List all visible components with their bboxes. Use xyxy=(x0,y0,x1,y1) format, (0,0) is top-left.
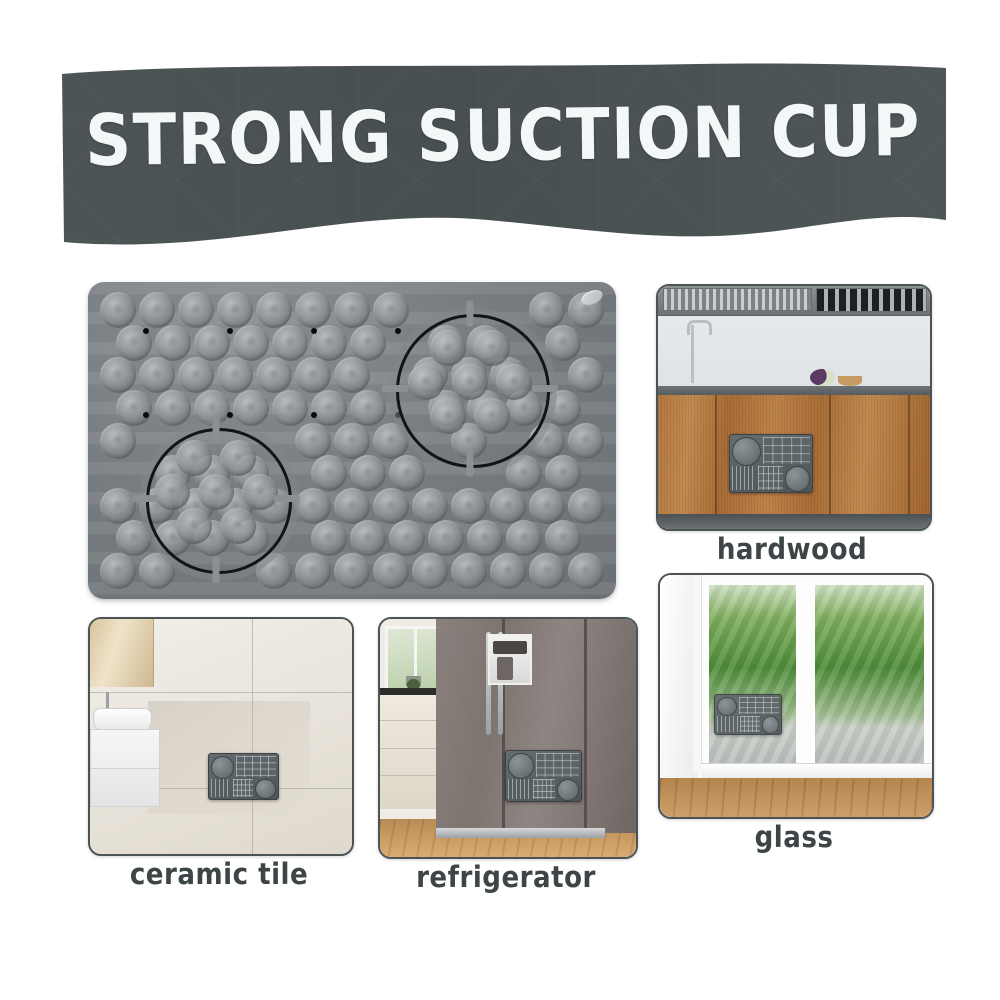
suction-cup xyxy=(217,292,253,328)
ring-spoke xyxy=(532,385,558,392)
suction-cup xyxy=(334,553,370,589)
suction-cup xyxy=(334,488,370,524)
hardwood-scene xyxy=(658,286,930,529)
page-title: STRONG SUCTION CUP xyxy=(57,55,949,216)
suction-cup xyxy=(272,325,308,361)
suction-cup xyxy=(490,553,526,589)
suction-cup xyxy=(545,390,581,426)
suction-cup xyxy=(116,390,152,426)
suction-cup xyxy=(256,292,292,328)
suction-cup xyxy=(139,553,175,589)
suction-cup xyxy=(155,390,191,426)
suction-cup xyxy=(139,357,175,393)
suction-cup xyxy=(116,520,152,556)
suction-cup xyxy=(350,520,386,556)
suction-cup xyxy=(412,553,448,589)
mini-mat-on-ceramic-tile xyxy=(208,753,279,800)
drain-pinhole xyxy=(311,328,317,334)
suction-cup xyxy=(373,423,409,459)
suction-cup xyxy=(350,455,386,491)
drain-pinhole xyxy=(143,328,149,334)
suction-cup xyxy=(529,292,565,328)
drain-pinhole xyxy=(227,328,233,334)
suction-cup xyxy=(295,553,331,589)
suction-cup xyxy=(568,423,604,459)
surface-photo-hardwood xyxy=(656,284,932,531)
suction-cup xyxy=(334,357,370,393)
drain-pinhole xyxy=(143,412,149,418)
suction-cup xyxy=(545,455,581,491)
suction-cup xyxy=(178,357,214,393)
suction-cup xyxy=(100,292,136,328)
banner: STRONG SUCTION CUP xyxy=(58,60,948,255)
suction-cup xyxy=(389,520,425,556)
suction-cup xyxy=(529,488,565,524)
suction-cup xyxy=(451,553,487,589)
ring-spoke xyxy=(213,556,220,582)
ring-spoke xyxy=(467,300,474,326)
suction-cup xyxy=(311,390,347,426)
ring-spoke xyxy=(132,495,158,502)
ring-spoke xyxy=(467,450,474,476)
drain-pinhole xyxy=(227,412,233,418)
suction-cup xyxy=(334,292,370,328)
suction-cup xyxy=(295,488,331,524)
ring-spoke xyxy=(382,385,408,392)
suction-cup xyxy=(233,390,269,426)
drain-pinhole xyxy=(311,412,317,418)
large-suction-ring xyxy=(146,428,292,574)
large-suction-ring xyxy=(396,314,550,468)
suction-cup xyxy=(529,553,565,589)
ring-spoke xyxy=(274,495,300,502)
suction-cup xyxy=(350,390,386,426)
surface-photo-ceramic-tile xyxy=(88,617,354,856)
surface-photo-glass xyxy=(658,573,934,819)
refrigerator-scene xyxy=(380,619,636,857)
suction-cup xyxy=(233,325,269,361)
suction-cup xyxy=(139,292,175,328)
mini-mat-on-hardwood xyxy=(729,434,813,492)
surface-label-ceramic-tile: ceramic tile xyxy=(88,857,350,891)
suction-cup xyxy=(155,325,191,361)
surface-label-refrigerator: refrigerator xyxy=(378,860,634,894)
suction-cup xyxy=(373,292,409,328)
ring-spoke xyxy=(213,414,220,440)
suction-cup xyxy=(412,488,448,524)
suction-cup xyxy=(295,357,331,393)
suction-cup xyxy=(545,325,581,361)
suction-cup xyxy=(545,520,581,556)
suction-cup xyxy=(373,488,409,524)
suction-cup xyxy=(373,553,409,589)
suction-cup xyxy=(100,357,136,393)
suction-cup xyxy=(568,553,604,589)
suction-cup xyxy=(506,520,542,556)
mat-body xyxy=(88,282,616,599)
suction-cup xyxy=(311,520,347,556)
suction-cup xyxy=(217,357,253,393)
suction-cup xyxy=(506,455,542,491)
glass-scene xyxy=(660,575,932,817)
surface-label-hardwood: hardwood xyxy=(656,532,928,566)
suction-cup xyxy=(100,488,136,524)
suction-cup xyxy=(178,292,214,328)
surface-photo-refrigerator xyxy=(378,617,638,859)
mini-mat-on-refrigerator xyxy=(505,750,582,802)
mini-mat-on-glass xyxy=(714,694,782,735)
suction-cup xyxy=(272,390,308,426)
drain-pinhole xyxy=(395,328,401,334)
suction-cup xyxy=(451,488,487,524)
suction-cup xyxy=(428,520,464,556)
suction-cup xyxy=(295,423,331,459)
suction-cup xyxy=(334,423,370,459)
surface-label-glass: glass xyxy=(658,820,930,854)
suction-cup xyxy=(568,357,604,393)
suction-cup xyxy=(568,488,604,524)
suction-cup xyxy=(311,455,347,491)
suction-cup xyxy=(295,292,331,328)
suction-cup xyxy=(256,357,292,393)
suction-cup xyxy=(350,325,386,361)
suction-cup xyxy=(490,488,526,524)
product-image-suction-mat xyxy=(88,282,616,599)
suction-cup xyxy=(100,553,136,589)
suction-cup xyxy=(389,455,425,491)
suction-cup xyxy=(100,423,136,459)
suction-cup xyxy=(194,325,230,361)
suction-cup xyxy=(467,520,503,556)
ceramic-tile-scene xyxy=(90,619,352,854)
